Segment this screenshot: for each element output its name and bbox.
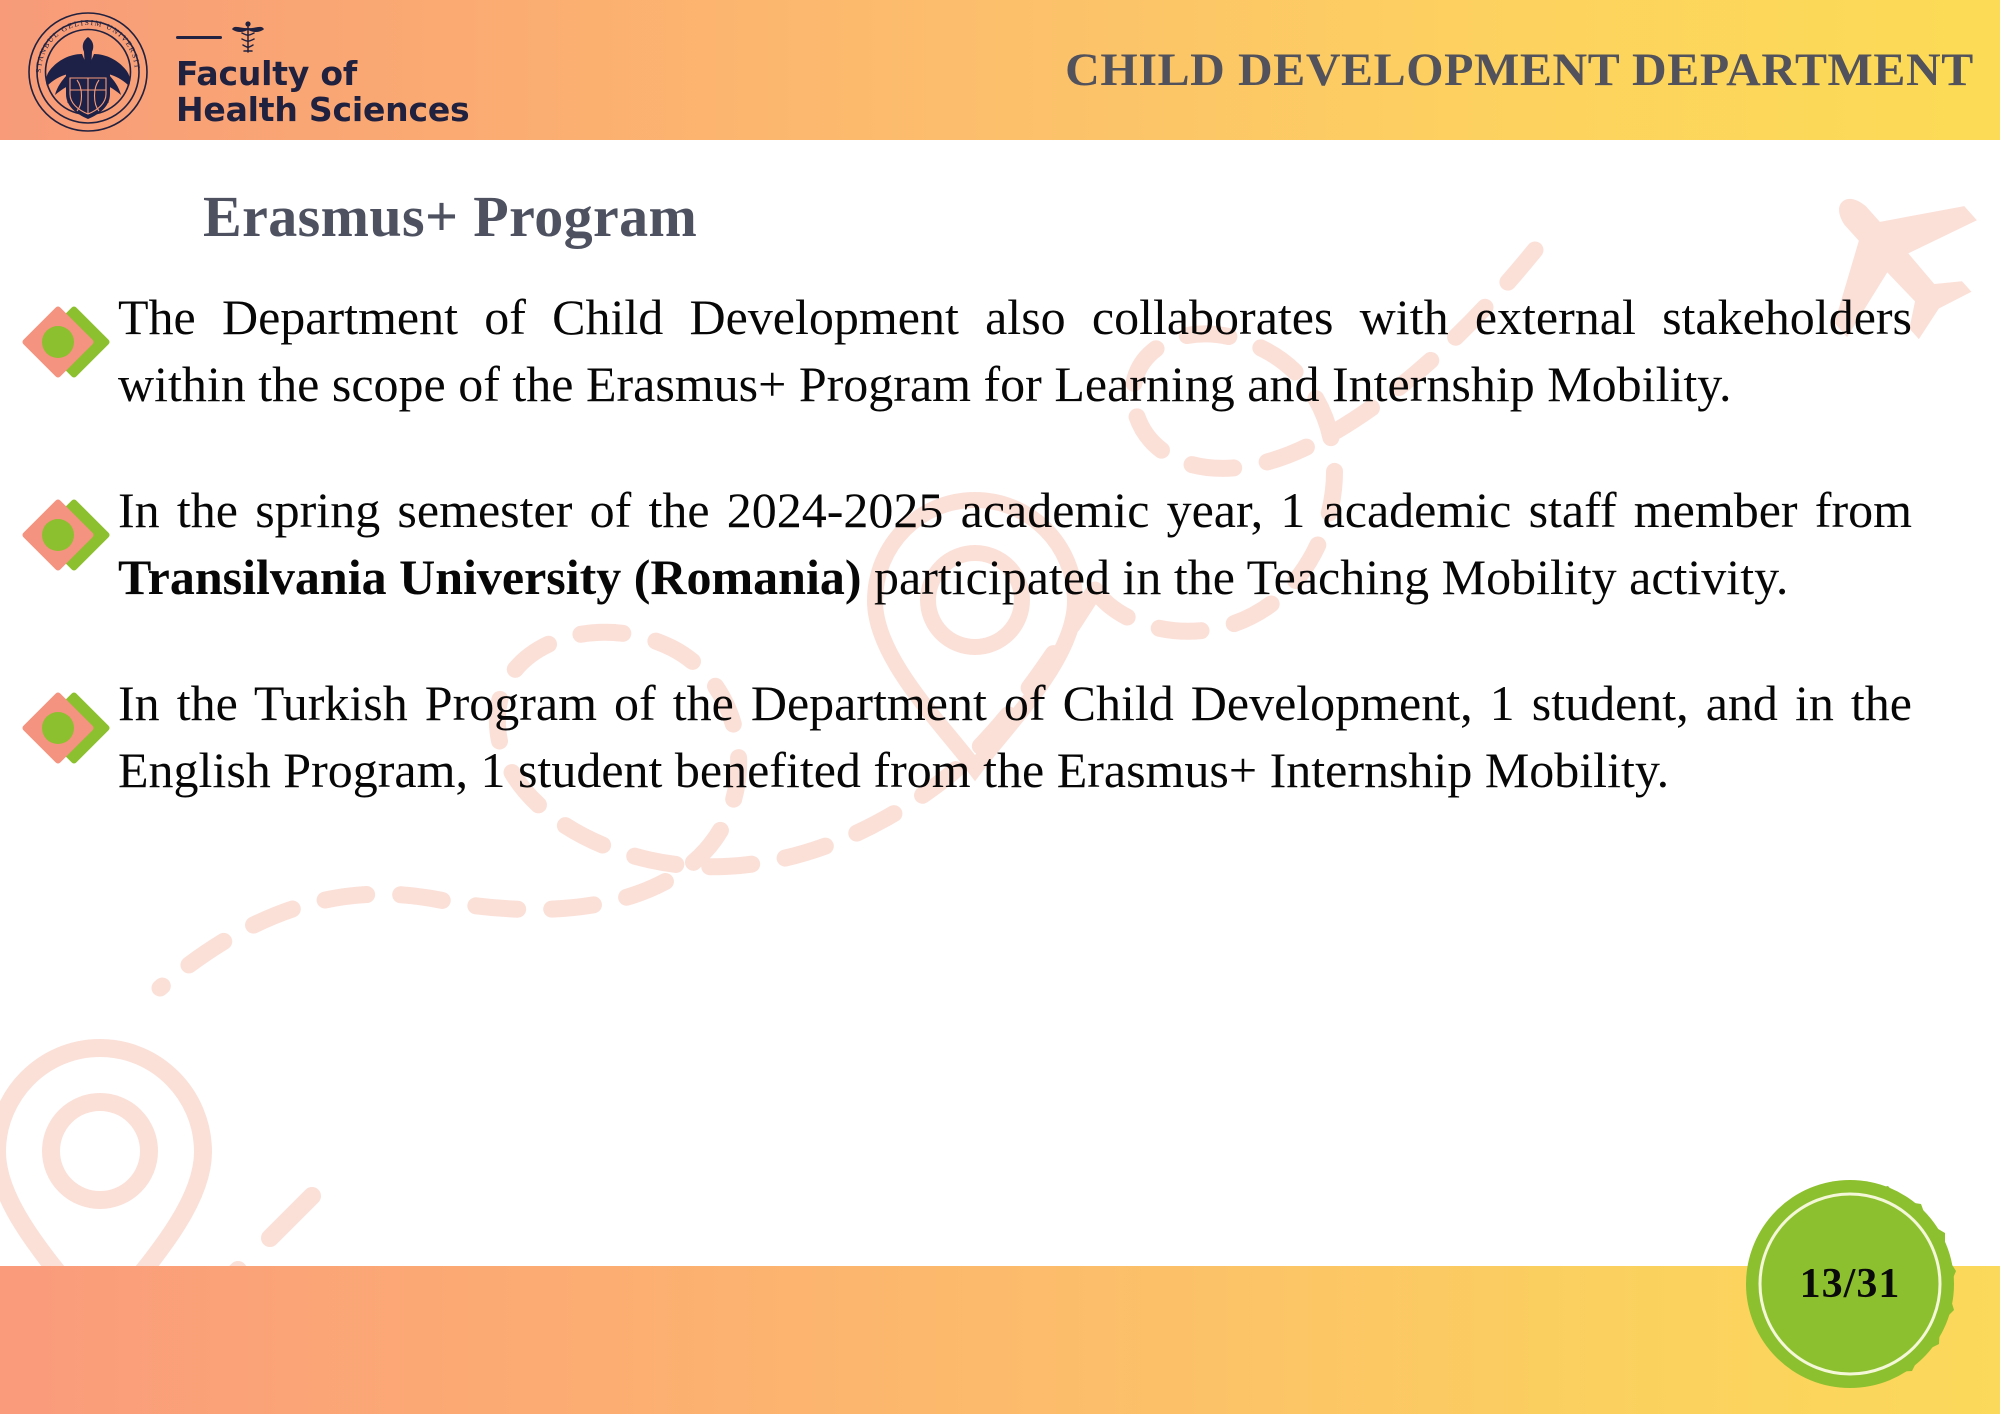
page-title: Erasmus+ Program bbox=[203, 183, 2000, 250]
university-crest-icon: ISTANBUL GELISIM UNIVERSITY EST.2008 bbox=[22, 10, 154, 134]
bullet-2-emphasis: Transilvania University (Romania) bbox=[118, 549, 862, 605]
divider-rule bbox=[176, 36, 222, 39]
list-item-text: In the Turkish Program of the Department… bbox=[118, 670, 1912, 803]
diamond-bullet-icon bbox=[18, 304, 118, 400]
list-item-text: The Department of Child Development also… bbox=[118, 284, 1912, 417]
page-number-label: 13/31 bbox=[1742, 1176, 1958, 1392]
caduceus-row bbox=[176, 20, 469, 54]
slide-header: ISTANBUL GELISIM UNIVERSITY EST.2008 bbox=[0, 0, 2000, 140]
bullet-1-part-1: The Department of Child Development also… bbox=[118, 289, 1912, 412]
presentation-slide: ISTANBUL GELISIM UNIVERSITY EST.2008 bbox=[0, 0, 2000, 1414]
department-title: CHILD DEVELOPMENT DEPARTMENT bbox=[1065, 0, 1974, 140]
bullet-3-part-1: In the Turkish Program of the Department… bbox=[118, 675, 1912, 798]
list-item: In the Turkish Program of the Department… bbox=[0, 670, 2000, 803]
bullet-2-part-1: In the spring semester of the 2024-2025 … bbox=[118, 482, 1912, 538]
list-item: In the spring semester of the 2024-2025 … bbox=[0, 477, 2000, 610]
faculty-lockup: Faculty of Health Sciences bbox=[176, 16, 469, 127]
list-item: The Department of Child Development also… bbox=[0, 284, 2000, 417]
list-item-text: In the spring semester of the 2024-2025 … bbox=[118, 477, 1912, 610]
faculty-name: Faculty of Health Sciences bbox=[176, 56, 469, 127]
diamond-bullet-icon bbox=[18, 497, 118, 593]
caduceus-icon bbox=[230, 20, 266, 54]
brand-lockup: ISTANBUL GELISIM UNIVERSITY EST.2008 bbox=[22, 10, 469, 134]
slide-footer bbox=[0, 1266, 2000, 1414]
slide-content: Erasmus+ Program The Department of Child… bbox=[0, 140, 2000, 863]
bullet-2-part-3: participated in the Teaching Mobility ac… bbox=[862, 549, 1789, 605]
page-number-badge: 13/31 bbox=[1742, 1176, 1958, 1392]
bullet-list: The Department of Child Development also… bbox=[0, 284, 2000, 803]
diamond-bullet-icon bbox=[18, 690, 118, 786]
